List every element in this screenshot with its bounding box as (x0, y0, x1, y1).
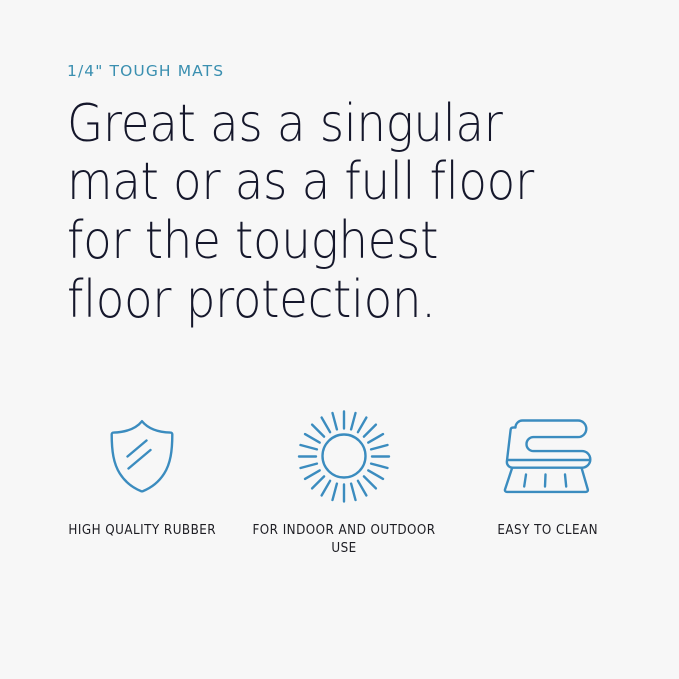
shield-icon (108, 404, 176, 508)
scrub-brush-icon (502, 404, 594, 508)
page-title: Great as a singular mat or as a full flo… (67, 95, 535, 330)
feature-label: FOR INDOOR AND OUTDOOR USE (251, 522, 437, 557)
feature-item-easy-to-clean: EASY TO CLEAN (447, 404, 649, 540)
feature-item-high-quality-rubber: HIGH QUALITY RUBBER (41, 404, 243, 540)
feature-item-indoor-outdoor: FOR INDOOR AND OUTDOOR USE (243, 404, 445, 557)
sun-icon (296, 404, 392, 508)
promo-card: 1/4" TOUGH MATS Great as a singular mat … (0, 0, 679, 679)
feature-label: HIGH QUALITY RUBBER (68, 522, 216, 540)
features-row: HIGH QUALITY RUBBER (0, 404, 679, 557)
header-block: 1/4" TOUGH MATS Great as a singular mat … (67, 62, 587, 330)
feature-label: EASY TO CLEAN (498, 522, 599, 540)
eyebrow-label: 1/4" TOUGH MATS (67, 62, 587, 81)
